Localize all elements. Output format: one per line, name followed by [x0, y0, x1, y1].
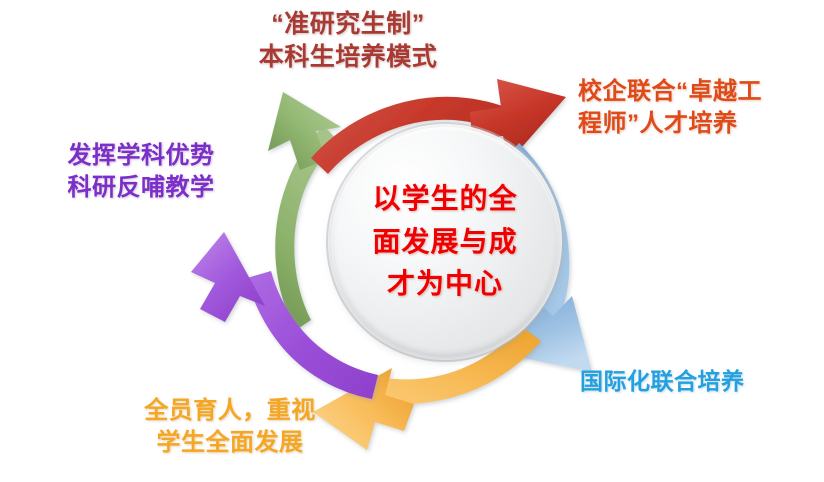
diagram-canvas: 以学生的全 面发展与成 才为中心 “准研究生制” 本科生培养模式 校企联合“卓越… — [0, 0, 824, 482]
label-top-right: 校企联合“卓越工 程师”人才培养 — [578, 76, 822, 139]
label-bottom-left: 全员育人，重视 学生全面发展 — [112, 395, 348, 458]
label-bottom-right: 国际化联合培养 — [580, 366, 810, 396]
center-text: 以学生的全 面发展与成 才为中心 — [372, 178, 517, 306]
center-circle: 以学生的全 面发展与成 才为中心 — [331, 127, 559, 357]
label-top: “准研究生制” 本科生培养模式 — [228, 8, 468, 74]
label-left: 发挥学科优势 科研反哺教学 — [28, 140, 254, 203]
